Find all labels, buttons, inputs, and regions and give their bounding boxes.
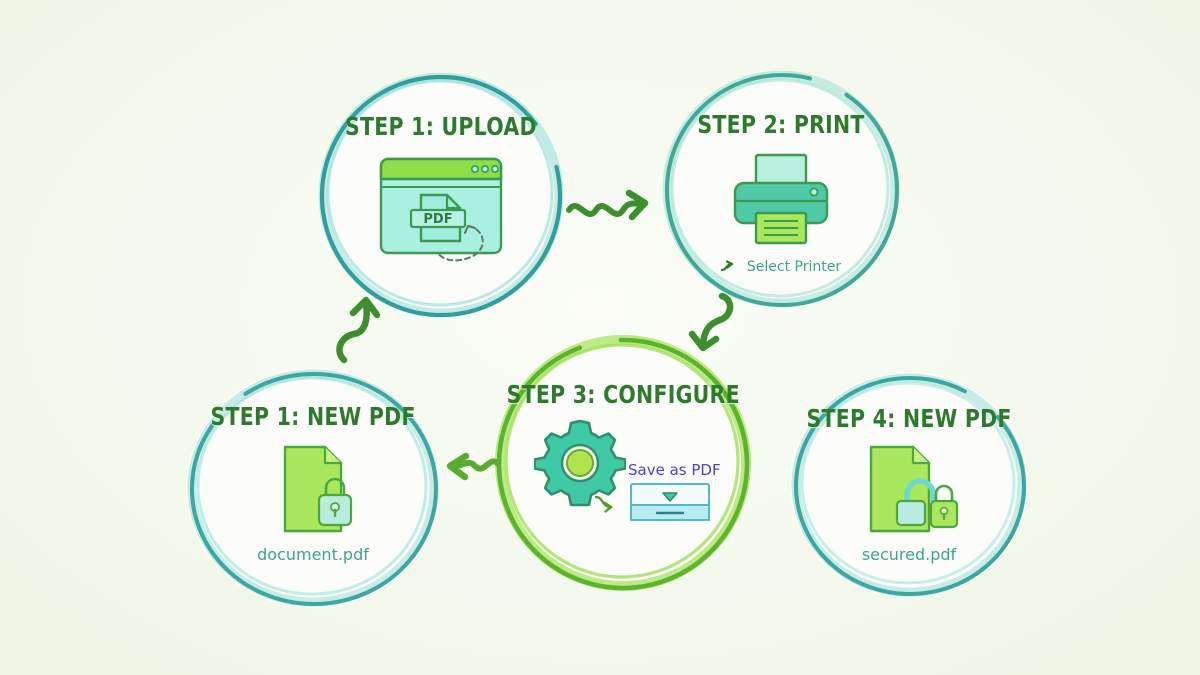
arrow-new-pdf-to-upload-icon: [328, 292, 404, 364]
pdf-document-unlocked-icon: [855, 445, 963, 539]
arrow-print-to-configure-icon: [676, 292, 754, 362]
svg-text:PDF: PDF: [423, 212, 452, 227]
step-node-upload[interactable]: STEP 1: UPLOAD PDF: [318, 72, 564, 318]
step-node-print[interactable]: STEP 2: PRINT: [662, 70, 900, 308]
diagram-canvas: STEP 1: UPLOAD PDF: [0, 0, 1200, 675]
step-node-new-pdf-document[interactable]: STEP 1: NEW PDF document.pdf: [186, 368, 440, 608]
printer-icon: [729, 153, 833, 253]
step-title: STEP 1: NEW PDF: [210, 402, 415, 431]
step-title: STEP 2: PRINT: [697, 110, 864, 139]
document-filename-label: document.pdf: [257, 545, 369, 564]
step-title: STEP 4: NEW PDF: [806, 404, 1011, 433]
pdf-document-locked-icon: [263, 445, 363, 539]
arrow-configure-to-new-pdf-icon: [428, 438, 506, 502]
browser-window-pdf-upload-icon: PDF: [373, 153, 509, 277]
step-title: STEP 1: UPLOAD: [345, 112, 537, 141]
small-arrow-icon: [721, 259, 741, 275]
step-node-new-pdf-secured[interactable]: STEP 4: NEW PDF secured.pdf: [790, 372, 1028, 598]
save-as-pdf-label: Save as PDF: [628, 461, 721, 479]
step-node-configure[interactable]: STEP 3: CONFIGURE Save as PDF: [494, 334, 752, 592]
secured-filename-label: secured.pdf: [862, 545, 956, 564]
step-title: STEP 3: CONFIGURE: [506, 380, 739, 409]
print-caption: Select Printer: [747, 259, 841, 275]
save-dialog-widget[interactable]: [630, 483, 710, 525]
arrow-upload-to-print-icon: [565, 172, 680, 242]
small-arrow-icon: [594, 491, 624, 515]
